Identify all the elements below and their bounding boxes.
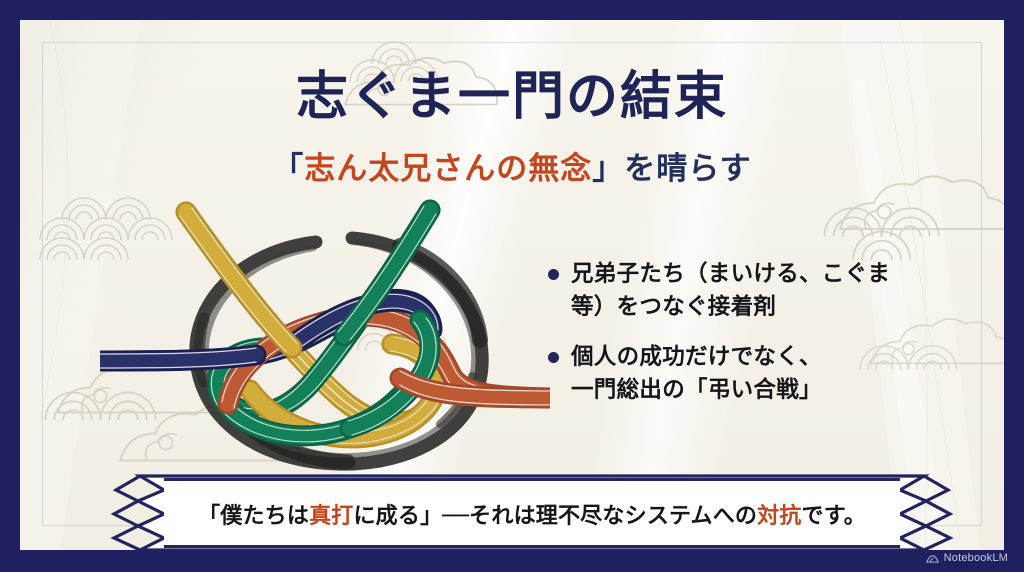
notebooklm-watermark: NotebookLM — [920, 550, 1014, 566]
subtitle-particle: の — [496, 151, 528, 186]
bullet-text: 個人の成功だけでなく、 一門総出の「弔い合戦」 — [571, 341, 822, 406]
bullet-dot-icon — [548, 269, 559, 280]
subtitle-highlight-2: 無念 — [528, 151, 592, 186]
banner-segment-1: 「僕たちは — [198, 504, 309, 529]
banner-segment-3: です。 — [802, 504, 866, 529]
list-item: 個人の成功だけでなく、 一門総出の「弔い合戦」 — [548, 341, 978, 406]
notebooklm-label: NotebookLM — [944, 552, 1008, 564]
banner-text: 「僕たちは真打に成る」──それは理不尽なシステムへの対抗です。 — [94, 498, 970, 530]
subtitle-close-bracket: 」 — [592, 151, 624, 186]
bullet-dot-icon — [548, 352, 559, 363]
page-title: 志ぐま一門の結束 — [20, 72, 1004, 124]
bullet-line: 兄弟子たち（まいける、こぐま — [571, 258, 890, 291]
banner-highlight-1: 真打 — [309, 504, 353, 529]
page-subtitle: 「志ん太兄さんの無念」を晴らす — [20, 153, 1004, 184]
notebooklm-icon — [926, 553, 939, 564]
banner-segment-2: に成る」──それは理不尽なシステムへの — [353, 504, 757, 529]
slide-root: 志ぐま一門の結束 「志ん太兄さんの無念」を晴らす — [0, 0, 1024, 572]
bullet-line: 個人の成功だけでなく、 — [571, 341, 822, 374]
list-item: 兄弟子たち（まいける、こぐま 等）をつなぐ接着剤 — [548, 258, 978, 323]
mizuhiki-knot-illustration — [100, 198, 550, 473]
bullet-line: 一門総出の「弔い合戦」 — [571, 374, 822, 407]
bullet-list: 兄弟子たち（まいける、こぐま 等）をつなぐ接着剤 個人の成功だけでなく、 一門総… — [548, 258, 978, 425]
banner-ribbon: 「僕たちは真打に成る」──それは理不尽なシステムへの対抗です。 — [94, 470, 970, 550]
subtitle-highlight-1: 志ん太兄さん — [304, 151, 496, 186]
paper-surface: 志ぐま一門の結束 「志ん太兄さんの無念」を晴らす — [20, 20, 1004, 550]
bullet-line: 等）をつなぐ接着剤 — [571, 291, 890, 324]
subtitle-tail: を晴らす — [624, 151, 751, 186]
bullet-text: 兄弟子たち（まいける、こぐま 等）をつなぐ接着剤 — [571, 258, 890, 323]
subtitle-open-bracket: 「 — [272, 151, 304, 186]
banner-highlight-2: 対抗 — [757, 504, 801, 529]
navy-cord-tail — [100, 348, 256, 368]
